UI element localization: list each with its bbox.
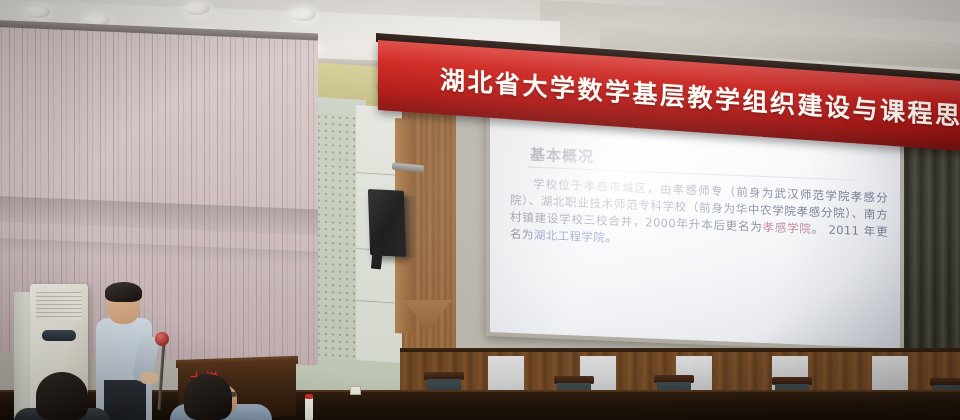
presenter-hair [105,282,142,302]
slide-highlight-red: 孝感学院 [763,220,812,236]
audience-member-head [36,372,88,420]
water-bottle-cap [305,394,313,399]
slide-body: 学校位于孝感市城区，由孝感师专（前身为武汉师范学院孝感分院）、湖北职业技术师范专… [510,175,888,258]
wall-outlet [350,386,361,395]
ceiling-downlight [26,6,50,18]
ceiling-downlight [290,8,316,21]
presenter-trousers [104,380,146,420]
slide-highlight-blue: 湖北工程学院 [534,228,605,245]
projection-screen: 基本概况 学校位于孝感市城区，由孝感师专（前身为武汉师范学院孝感分院）、湖北职业… [490,112,900,348]
conference-hall-photo: 基本概况 学校位于孝感市城区，由孝感师专（前身为武汉师范学院孝感分院）、湖北职业… [0,0,960,420]
audience-member-head [184,374,232,420]
air-conditioner-control-panel[interactable] [42,330,76,341]
slide-text-part: 。 [605,231,617,245]
slide-title: 基本概况 [530,144,594,168]
water-bottle [305,396,313,420]
presenter-hand [140,372,158,384]
audience-member-glasses [216,392,236,397]
microphone-icon [155,332,169,346]
air-conditioner-grill [36,292,82,320]
ceiling-downlight [184,2,210,15]
